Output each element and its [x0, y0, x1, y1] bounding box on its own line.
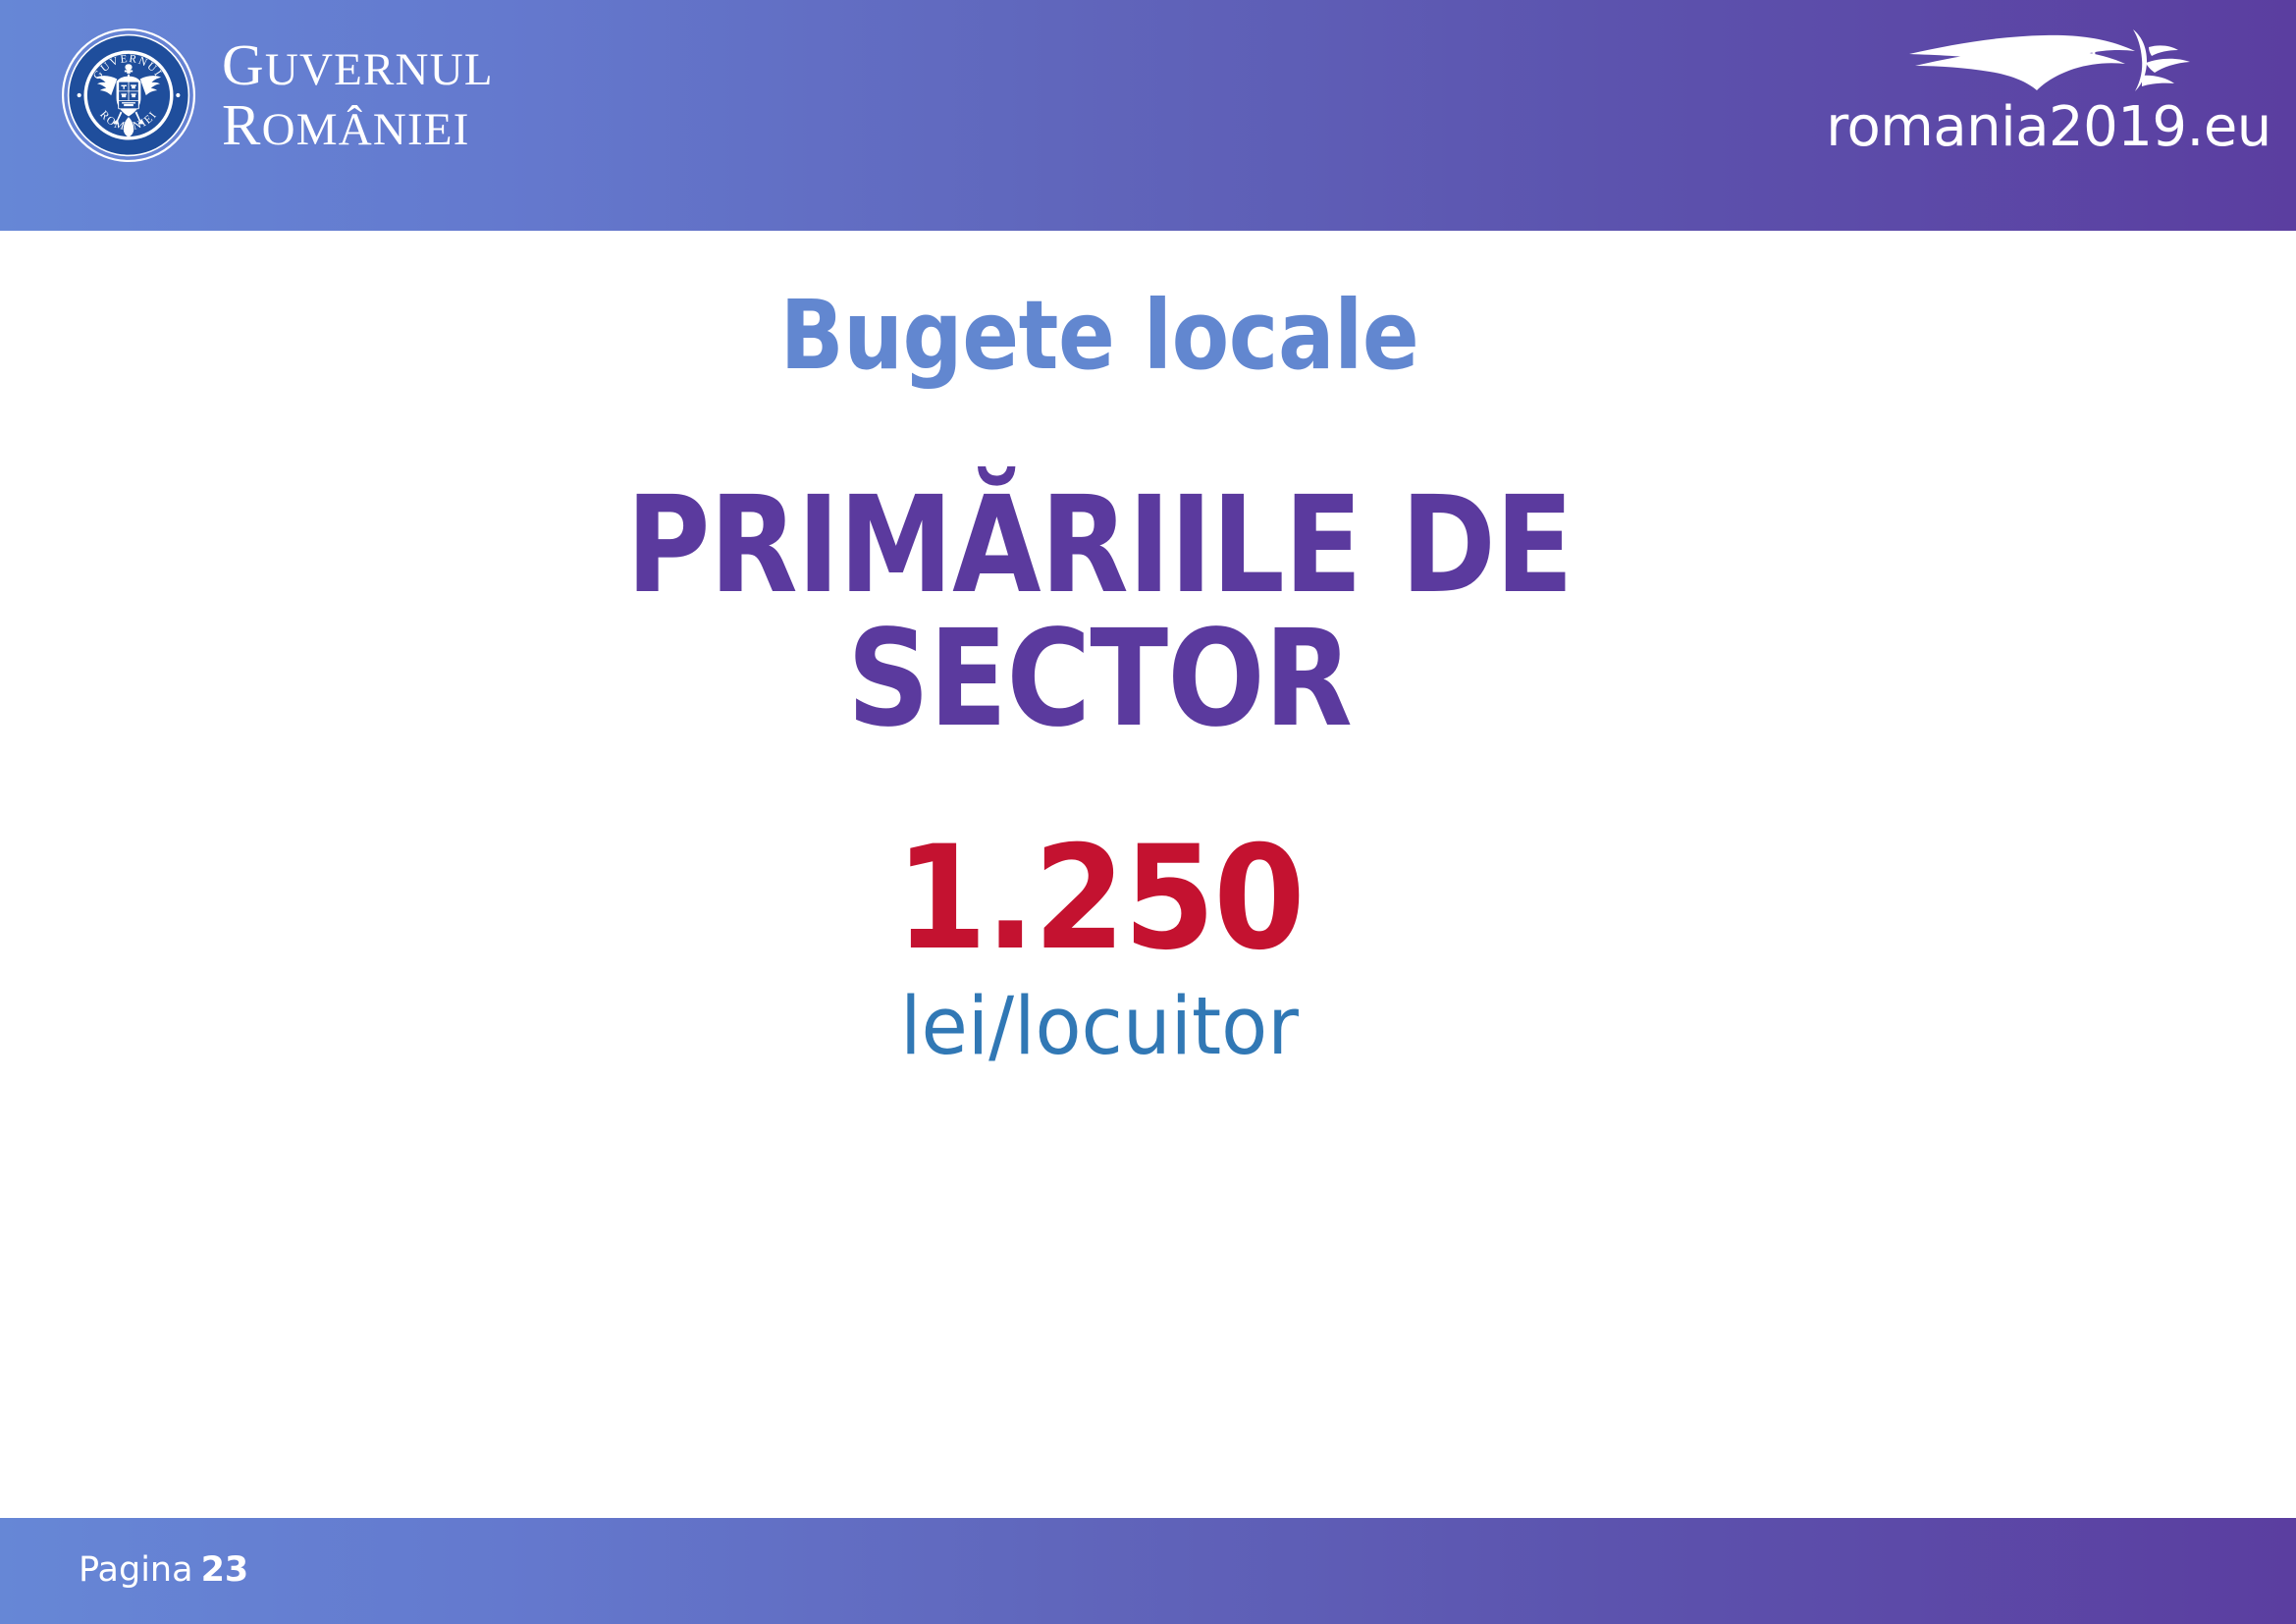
eu-presidency-wordmark: romania2019.eu: [1826, 100, 2271, 155]
slide-body: Bugete locale PRIMĂRIILE DE SECTOR 1.250…: [0, 231, 2296, 1067]
key-figure-unit: lei/locuitor: [363, 988, 1837, 1067]
section-eyebrow: Bugete locale: [417, 288, 1782, 383]
government-logo: GUVERNUL ROMÂNIEI: [61, 27, 494, 163]
page-title: PRIMĂRIILE DE SECTOR: [433, 479, 1767, 746]
page-number: 23: [201, 1550, 249, 1590]
romania2019-eu-swoosh-icon: [1901, 22, 2196, 98]
gov-wordmark-line-1: GUVERNUL: [222, 35, 494, 95]
slide: GUVERNUL ROMÂNIEI: [0, 0, 2296, 1624]
romania-coat-of-arms-seal-icon: GUVERNUL ROMÂNIEI: [61, 27, 196, 163]
page-label: Pagina: [79, 1550, 193, 1590]
footer-bar: Pagina23: [0, 1518, 2296, 1624]
gov-wordmark-line-2: ROMÂNIEI: [222, 95, 494, 155]
header-bar: GUVERNUL ROMÂNIEI: [0, 0, 2296, 231]
government-wordmark: GUVERNUL ROMÂNIEI: [222, 35, 494, 156]
page-indicator: Pagina23: [79, 1553, 248, 1588]
eu-presidency-logo: romania2019.eu: [1842, 22, 2255, 155]
key-figure-value: 1.250: [386, 827, 1813, 970]
